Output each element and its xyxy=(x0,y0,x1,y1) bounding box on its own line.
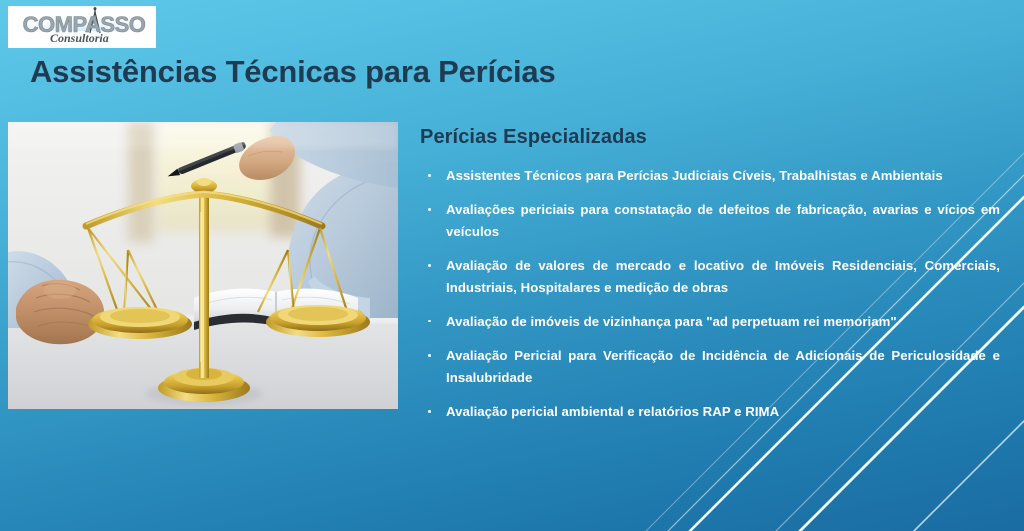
bullet-marker-icon xyxy=(428,410,431,413)
list-item-text: Assistentes Técnicos para Perícias Judic… xyxy=(446,168,943,183)
list-item: Assistentes Técnicos para Perícias Judic… xyxy=(420,165,1000,186)
list-item: Avaliação de valores de mercado e locati… xyxy=(420,255,1000,298)
hero-photo xyxy=(8,122,398,409)
scales-of-justice-photo xyxy=(8,122,398,409)
list-item-text: Avaliação Pericial para Verificação de I… xyxy=(446,348,1000,384)
list-item-text: Avaliação pericial ambiental e relatório… xyxy=(446,404,779,419)
list-item-text: Avaliações periciais para constatação de… xyxy=(446,202,1000,238)
section-heading: Perícias Especializadas xyxy=(420,126,1000,149)
company-logo[interactable]: COMPASSO Consultoria xyxy=(8,6,156,48)
logo-tagline: Consultoria xyxy=(50,32,109,44)
list-item: Avaliação pericial ambiental e relatório… xyxy=(420,401,1000,422)
list-item: Avaliação Pericial para Verificação de I… xyxy=(420,345,1000,388)
bullet-marker-icon xyxy=(428,320,431,323)
list-item: Avaliações periciais para constatação de… xyxy=(420,199,1000,242)
bullet-marker-icon xyxy=(428,354,431,357)
list-item: Avaliação de imóveis de vizinhança para … xyxy=(420,311,1000,332)
services-list: Assistentes Técnicos para Perícias Judic… xyxy=(420,165,1000,422)
content-panel: Perícias Especializadas Assistentes Técn… xyxy=(420,126,1000,422)
bullet-marker-icon xyxy=(428,208,431,211)
bullet-marker-icon xyxy=(428,174,431,177)
list-item-text: Avaliação de imóveis de vizinhança para … xyxy=(446,314,897,329)
list-item-text: Avaliação de valores de mercado e locati… xyxy=(446,258,1000,294)
bullet-marker-icon xyxy=(428,264,431,267)
slide-canvas: COMPASSO Consultoria Assistências Técnic… xyxy=(0,0,1024,531)
page-title: Assistências Técnicas para Perícias xyxy=(30,54,556,90)
